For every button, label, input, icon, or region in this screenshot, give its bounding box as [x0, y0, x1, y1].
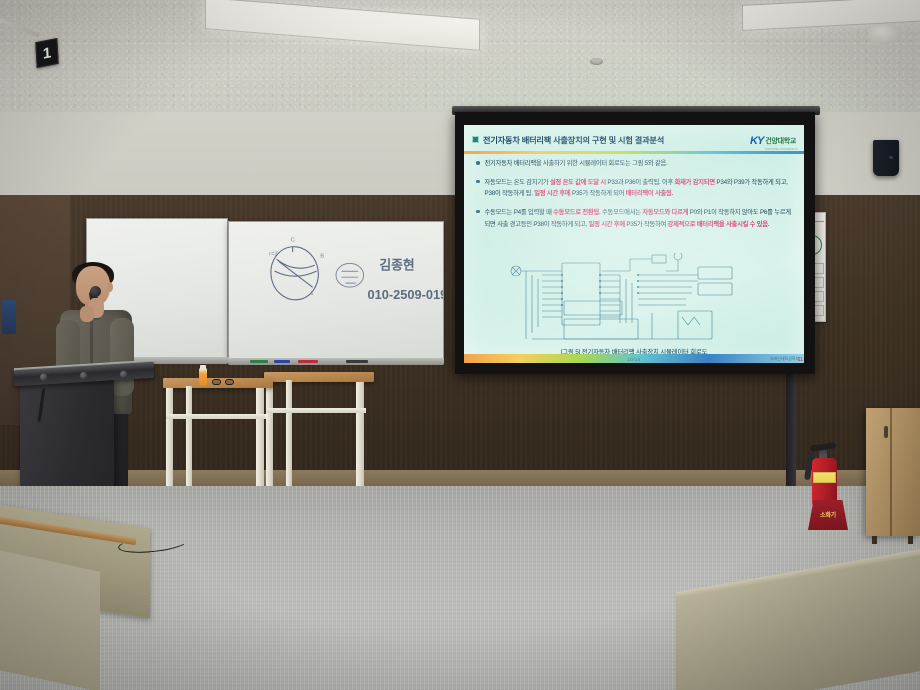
- list-item: 자동모드는 온도 감지기가 설정 온도 값에 도달 시 P33과 P36이 출력…: [476, 177, 792, 200]
- bullet-plain-run: P35가 작동하게 되어: [570, 190, 625, 197]
- bullet-highlight-run: 자동모드와 다르게: [642, 209, 688, 216]
- presenter-ear: [107, 282, 113, 292]
- bullet-highlight-run: 강제적으로 배터리팩을 사출시킬 수 있음.: [668, 221, 770, 228]
- zone-number-sign: 1: [35, 38, 58, 68]
- bullet-dot-icon: [476, 180, 480, 184]
- bullet-plain-run: 수동모드에서는: [601, 209, 643, 216]
- list-item: 수동모드는 P4를 입력할 때 수동모드로 전환됨. 수동모드에서는 자동모드와…: [476, 207, 792, 230]
- podium-knob: [40, 373, 47, 380]
- svg-text:C: C: [291, 238, 296, 244]
- logo-mark: KY: [750, 135, 763, 147]
- slide-page-number: 11: [798, 357, 803, 363]
- svg-text:B: B: [320, 253, 324, 259]
- bullet-plain-run: P35가 작동하여: [625, 221, 668, 228]
- podium-knob: [80, 372, 87, 379]
- bullet-plain-run: 전기자동차 배터리팩을 사출하기 위한 시뮬레이터 회로도는 그림 5와 같음.: [485, 160, 668, 167]
- svg-text:1: 1: [310, 291, 313, 297]
- bullet-dot-icon: [476, 161, 480, 165]
- svg-text:김종현: 김종현: [379, 257, 414, 272]
- svg-text:010-2509-0199: 010-2509-0199: [368, 287, 443, 302]
- extinguisher-stand-label: 소화기: [812, 510, 844, 519]
- whiteboard-tray-right: [228, 358, 444, 365]
- bottle-cap: [200, 365, 206, 369]
- presentation-slide: 전기자동차 배터리팩 사출장치의 구현 및 시험 결과분석 KY 건양대학교 K…: [464, 125, 804, 363]
- ceiling-dome-fixture: [868, 24, 902, 44]
- bullet-highlight-run: 일정 시간 후에: [534, 190, 570, 197]
- university-logo: KY 건양대학교 KONYANG UNIVERSITY: [750, 130, 798, 151]
- smoke-detector-icon: [590, 58, 603, 65]
- lecture-hall-photo: 1 전기자동차 배터리팩 사출장치의 구현 및 시험 결과분석 KY: [0, 0, 920, 690]
- bullet-plain-run: 수동모드는 P4를 입력할 때: [485, 209, 554, 216]
- left-wall-placard: [2, 300, 16, 334]
- speaker-driver-dot: [889, 156, 893, 159]
- projection-screen: 전기자동차 배터리팩 사출장치의 구현 및 시험 결과분석 KY 건양대학교 K…: [455, 112, 815, 374]
- bullet-text-3: 수동모드는 P4를 입력할 때 수동모드로 전환됨. 수동모드에서는 자동모드와…: [485, 207, 793, 230]
- bullet-plain-run: P33과 P36이 출력됨. 이후: [606, 179, 675, 186]
- slide-bullet-list: 전기자동차 배터리팩을 사출하기 위한 시뮬레이터 회로도는 그림 5와 같음.…: [476, 158, 792, 237]
- bullet-text-1: 전기자동차 배터리팩을 사출하기 위한 시뮬레이터 회로도는 그림 5와 같음.: [485, 158, 668, 170]
- bullet-plain-run: 자동모드는 온도 감지기가: [485, 179, 550, 186]
- eyeglasses: [212, 379, 234, 385]
- bullet-highlight-run: 일정 시간 후에: [589, 221, 625, 228]
- logo-name: 건양대학교: [765, 138, 796, 145]
- bullet-highlight-run: 설정 온도 값에 도달 시: [550, 179, 606, 186]
- bullet-highlight-run: 화재가 감지되면: [675, 179, 715, 186]
- marker-blue: [274, 360, 290, 363]
- wooden-cabinet: [866, 408, 920, 536]
- bullet-highlight-run: 수동모드로 전환됨.: [553, 209, 600, 216]
- orange-juice-bottle: [199, 368, 207, 386]
- marker-black: [346, 360, 368, 363]
- wall-speaker-icon: [873, 140, 899, 176]
- cabinet-door-seam: [890, 408, 892, 536]
- marker-red: [298, 360, 318, 363]
- bullet-text-2: 자동모드는 온도 감지기가 설정 온도 값에 도달 시 P33과 P36이 출력…: [485, 177, 793, 200]
- slide-title: 전기자동차 배터리팩 사출장치의 구현 및 시험 결과분석: [483, 134, 664, 146]
- circuit-diagram-figure: [502, 253, 767, 345]
- slide-title-rule: [464, 151, 804, 154]
- bullet-highlight-run: 배터리팩이 사출됨.: [626, 190, 673, 197]
- cabinet-handle[interactable]: [884, 426, 888, 438]
- slide-footer-center: 10/14: [464, 357, 804, 362]
- podium-knob: [120, 370, 127, 377]
- stage-step-left-lower: [0, 548, 100, 690]
- list-item: 전기자동차 배터리팩을 사출하기 위한 시뮬레이터 회로도는 그림 5와 같음.: [476, 158, 792, 170]
- bullet-dot-icon: [476, 210, 480, 214]
- svg-text:r=3: r=3: [269, 252, 278, 258]
- whiteboard-handwriting: r=3 C B 1 김종현 010-2509-0199: [229, 222, 443, 358]
- whiteboard-right: r=3 C B 1 김종현 010-2509-0199: [228, 221, 444, 359]
- slide-footer-department: 미래인재육성학부: [770, 356, 799, 362]
- presenter-left-hand: [80, 306, 94, 322]
- marker-green: [250, 360, 268, 363]
- title-bullet-icon: [472, 136, 479, 143]
- extinguisher-label: [813, 472, 836, 483]
